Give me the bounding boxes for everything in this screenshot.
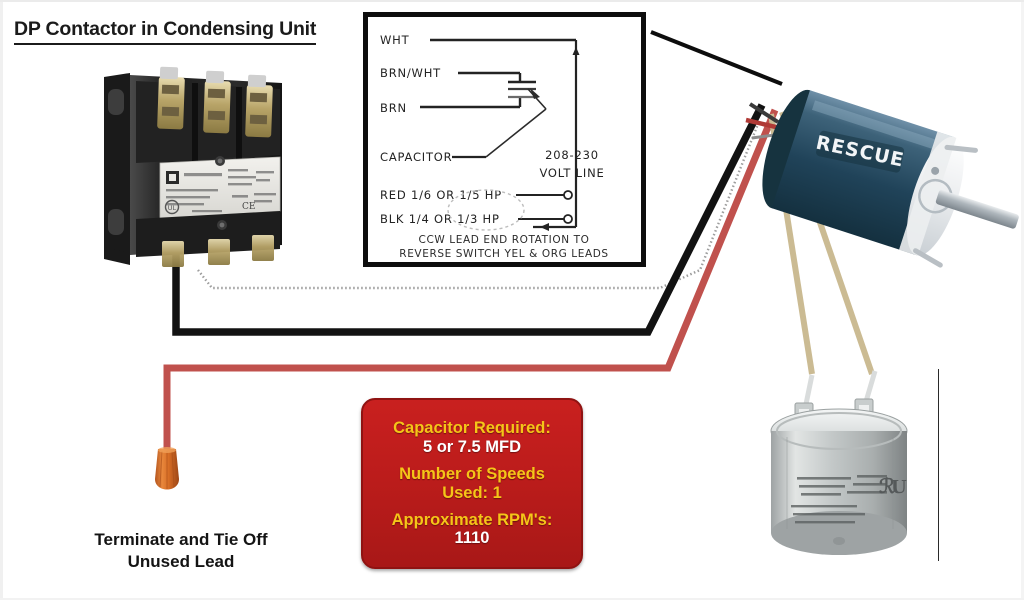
svg-text:CE: CE: [242, 202, 255, 212]
schematic-label-brn: BRN: [380, 101, 407, 115]
run-capacitor: ℛ U: [757, 365, 929, 563]
approximate-rpm-value: 1110: [392, 529, 553, 547]
tie-off-caption-line-2: Unused Lead: [58, 551, 304, 573]
tie-off-caption-line-1: Terminate and Tie Off: [58, 529, 304, 551]
speeds-spec-group: Number of Speeds Used: 1: [399, 465, 545, 502]
capacitor-required-label: Capacitor Required:: [393, 419, 551, 437]
condenser-fan-motor: RESCUE: [742, 64, 1020, 294]
capacitor-spec-group: Capacitor Required: 5 or 7.5 MFD: [393, 419, 551, 456]
approximate-rpm-label: Approximate RPM's:: [392, 511, 553, 529]
wiring-schematic-box: WHT BRN/WHT BRN CAPACITOR: [363, 12, 646, 267]
schematic-label-volt-2: VOLT LINE: [539, 166, 604, 180]
tie-off-caption: Terminate and Tie Off Unused Lead: [58, 529, 304, 573]
svg-text:UL: UL: [168, 204, 177, 212]
schematic-label-red-hp: RED 1/6 OR 1/5 HP: [380, 188, 502, 202]
schematic-note-line-2: REVERSE SWITCH YEL & ORG LEADS: [399, 248, 608, 260]
schematic-label-brn-wht: BRN/WHT: [380, 66, 441, 80]
specs-callout-box: Capacitor Required: 5 or 7.5 MFD Number …: [361, 398, 583, 569]
schematic-label-capacitor: CAPACITOR: [380, 150, 452, 164]
number-of-speeds-label: Number of Speeds: [399, 465, 545, 483]
left-edge-band: [0, 2, 3, 600]
dp-contactor: UL CE: [96, 59, 304, 271]
wire-nut: [152, 445, 182, 501]
capacitor-required-value: 5 or 7.5 MFD: [393, 438, 551, 456]
right-vertical-rule: [938, 369, 939, 561]
diagram-canvas: DP Contactor in Condensing Unit WHT BRN/…: [0, 0, 1024, 600]
schematic-label-blk-hp: BLK 1/4 OR 1/3 HP: [380, 212, 500, 226]
page-title: DP Contactor in Condensing Unit: [14, 18, 316, 45]
rpm-spec-group: Approximate RPM's: 1110: [392, 511, 553, 548]
schematic-label-volt-1: 208-230: [545, 148, 599, 162]
number-of-speeds-value: Used: 1: [399, 484, 545, 502]
schematic-label-wht: WHT: [380, 33, 410, 47]
schematic-note-line-1: CCW LEAD END ROTATION TO: [419, 234, 590, 246]
svg-text:U: U: [891, 477, 907, 498]
